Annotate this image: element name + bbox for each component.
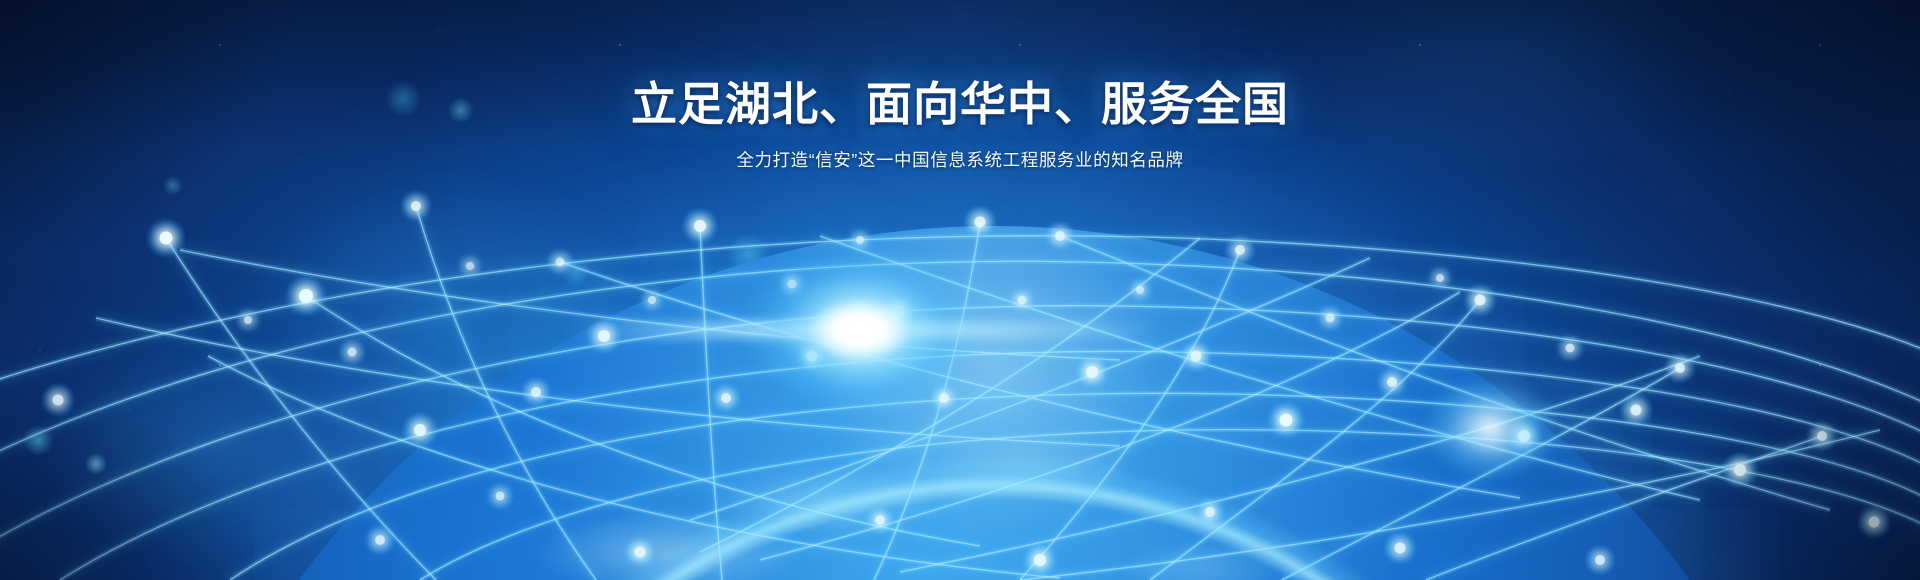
network-node bbox=[1595, 555, 1605, 565]
secondary-flare-core bbox=[1400, 358, 1580, 498]
network-node bbox=[648, 296, 656, 304]
network-node bbox=[1387, 377, 1397, 387]
network-node bbox=[531, 387, 541, 397]
banner-subheadline: 全力打造“信安”这一中国信息系统工程服务业的知名品牌 bbox=[0, 147, 1920, 173]
network-node bbox=[1034, 554, 1046, 566]
banner-headline: 立足湖北、面向华中、服务全国 bbox=[0, 78, 1920, 131]
network-node bbox=[1395, 543, 1406, 554]
network-node bbox=[1235, 245, 1245, 255]
network-node bbox=[1734, 464, 1746, 476]
network-node bbox=[1191, 351, 1202, 362]
network-node bbox=[1055, 231, 1065, 241]
banner-copy: 立足湖北、面向华中、服务全国 全力打造“信安”这一中国信息系统工程服务业的知名品… bbox=[0, 78, 1920, 174]
network-node bbox=[160, 232, 173, 245]
network-node bbox=[244, 316, 252, 324]
network-node bbox=[466, 262, 474, 270]
network-node bbox=[53, 395, 64, 406]
network-node bbox=[348, 348, 357, 357]
network-node bbox=[1475, 295, 1486, 306]
network-node bbox=[1205, 507, 1215, 517]
network-node bbox=[1018, 296, 1027, 305]
network-node bbox=[1326, 314, 1335, 323]
flare-hotspot bbox=[806, 300, 914, 360]
network-node bbox=[1136, 286, 1144, 294]
network-node bbox=[1436, 274, 1444, 282]
hero-banner: 立足湖北、面向华中、服务全国 全力打造“信安”这一中国信息系统工程服务业的知名品… bbox=[0, 0, 1920, 580]
network-node bbox=[375, 535, 385, 545]
network-node bbox=[635, 547, 646, 558]
network-node bbox=[1675, 363, 1685, 373]
network-node bbox=[1631, 405, 1642, 416]
network-node bbox=[496, 492, 505, 501]
network-node bbox=[1869, 517, 1880, 528]
network-node bbox=[299, 289, 313, 303]
network-node bbox=[875, 515, 885, 525]
network-node bbox=[694, 220, 706, 232]
network-node bbox=[1817, 431, 1827, 441]
network-node bbox=[1280, 414, 1293, 427]
network-node bbox=[556, 258, 565, 267]
network-node bbox=[414, 424, 426, 436]
network-node bbox=[1566, 344, 1575, 353]
network-node bbox=[1086, 366, 1098, 378]
network-node bbox=[411, 201, 421, 211]
